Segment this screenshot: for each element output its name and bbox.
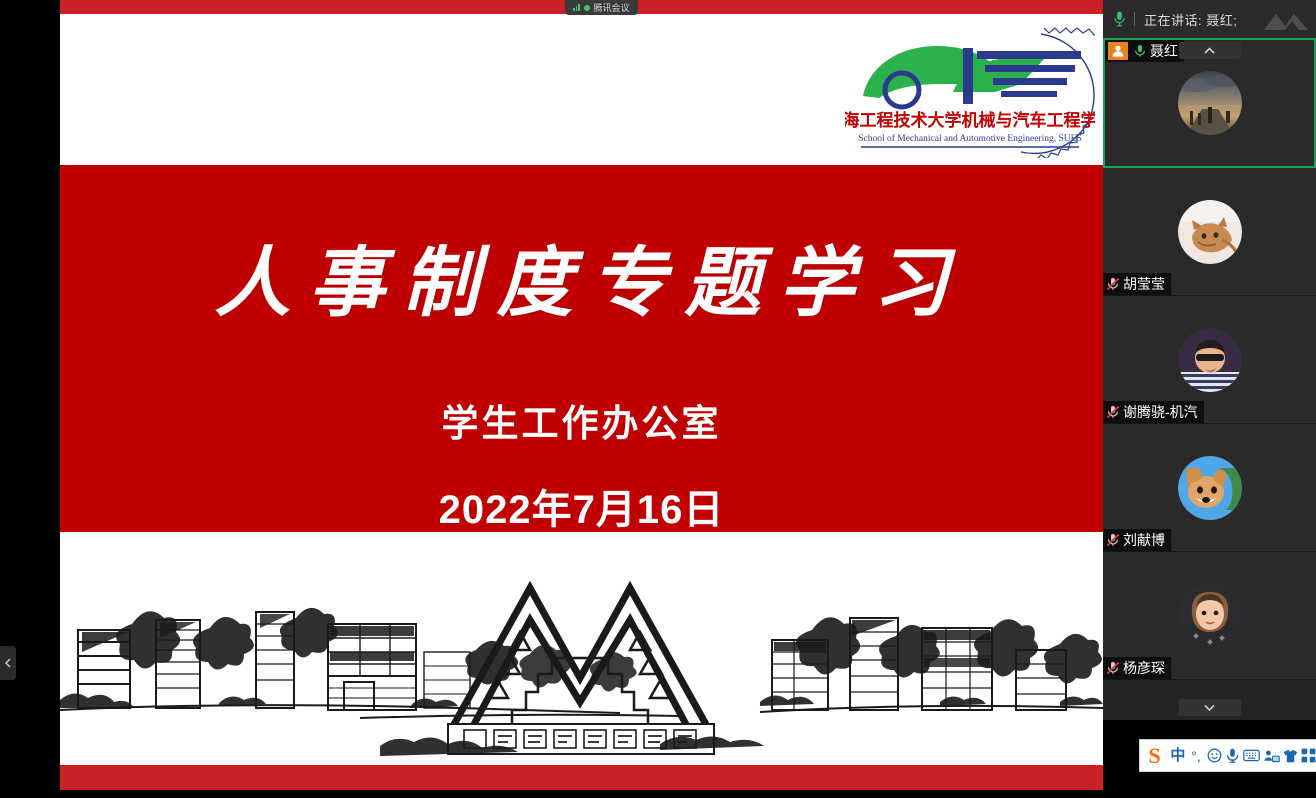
microphone-icon[interactable] [1225,746,1240,766]
slide-subtitle: 学生工作办公室 [60,393,1103,447]
participant-name: 刘献博 [1123,530,1165,550]
microphone-icon [1111,11,1127,27]
participant-nameplate: 胡莹莹 [1103,273,1171,295]
microphone-muted-icon [1106,277,1120,291]
school-logo: 上海工程技术大学机械与汽车工程学院 School of Mechanical a… [845,18,1095,158]
svg-text:20: 20 [1273,756,1278,761]
tencent-meeting-watermark-icon [1258,8,1314,34]
participant-tile-list[interactable]: 聂红 [1103,38,1316,720]
presentation-slide: 上海工程技术大学机械与汽车工程学院 School of Mechanical a… [60,0,1103,790]
participant-name: 聂红 [1150,41,1178,61]
host-person-icon [1108,42,1128,60]
campus-line-drawing [60,532,1103,757]
participant-nameplate: 谢腾骁-机汽 [1103,401,1204,423]
participant-tile[interactable]: 谢腾骁-机汽 [1103,296,1316,424]
sogou-logo-icon[interactable]: S [1144,743,1165,769]
recording-dot-icon [584,5,590,11]
chevron-down-icon[interactable] [1179,699,1241,716]
participant-nameplate: 杨彦琛 [1103,657,1171,679]
participant-name: 谢腾骁-机汽 [1123,402,1198,422]
avatar [1178,328,1242,392]
slide-date: 2022年7月16日 [60,477,1103,535]
participant-name: 杨彦琛 [1123,658,1165,678]
logo-cn-name: 上海工程技术大学机械与汽车工程学院 [845,110,1095,130]
microphone-muted-icon [1106,661,1120,675]
sogou-ime-toolbar[interactable]: S 中 °, 20 [1140,740,1316,771]
avatar [1178,584,1242,648]
speaking-now-label: 正在讲话: 聂红; [1144,10,1237,29]
slide-title-band: 人事制度专题学习 学生工作办公室 2022年7月16日 [60,165,1103,532]
microphone-on-icon [1133,44,1147,58]
avatar [1178,71,1242,135]
smiley-icon[interactable] [1207,746,1222,766]
slide-header: 上海工程技术大学机械与汽车工程学院 School of Mechanical a… [60,14,1103,165]
participant-tile[interactable]: 刘献博 [1103,424,1316,552]
participant-name: 胡莹莹 [1123,274,1165,294]
shared-screen-region[interactable]: 上海工程技术大学机械与汽车工程学院 School of Mechanical a… [0,0,1103,798]
toolbar-divider [1134,12,1135,26]
keyboard-icon[interactable] [1243,746,1260,766]
shirt-icon[interactable] [1283,746,1298,766]
language-mode-chinese[interactable]: 中 [1170,746,1185,766]
slide-bottom-strip [60,765,1103,790]
avatar [1178,456,1242,520]
participant-nameplate: 聂红 [1105,40,1184,62]
grid-menu-icon[interactable] [1301,746,1316,766]
participant-sidebar[interactable]: 正在讲话: 聂红; [1103,0,1316,720]
participant-tile[interactable]: 胡莹莹 [1103,168,1316,296]
chevron-left-icon[interactable] [0,646,16,680]
microphone-muted-icon [1106,405,1120,419]
meeting-badge-label: 腾讯会议 [594,1,630,14]
participant-tile[interactable]: 杨彦琛 [1103,552,1316,680]
punctuation-mode[interactable]: °, [1188,746,1203,766]
logo-en-name: School of Mechanical and Automotive Engi… [858,133,1081,144]
signal-bars-icon [573,4,580,11]
microphone-muted-icon [1106,533,1120,547]
avatar [1178,200,1242,264]
user-badge-icon[interactable]: 20 [1263,746,1280,766]
speaking-now-bar: 正在讲话: 聂红; [1103,0,1316,38]
meeting-status-badge[interactable]: 腾讯会议 [565,0,638,15]
page-title: 人事制度专题学习 [60,243,1103,327]
participant-nameplate: 刘献博 [1103,529,1171,551]
chevron-up-icon[interactable] [1179,42,1241,59]
